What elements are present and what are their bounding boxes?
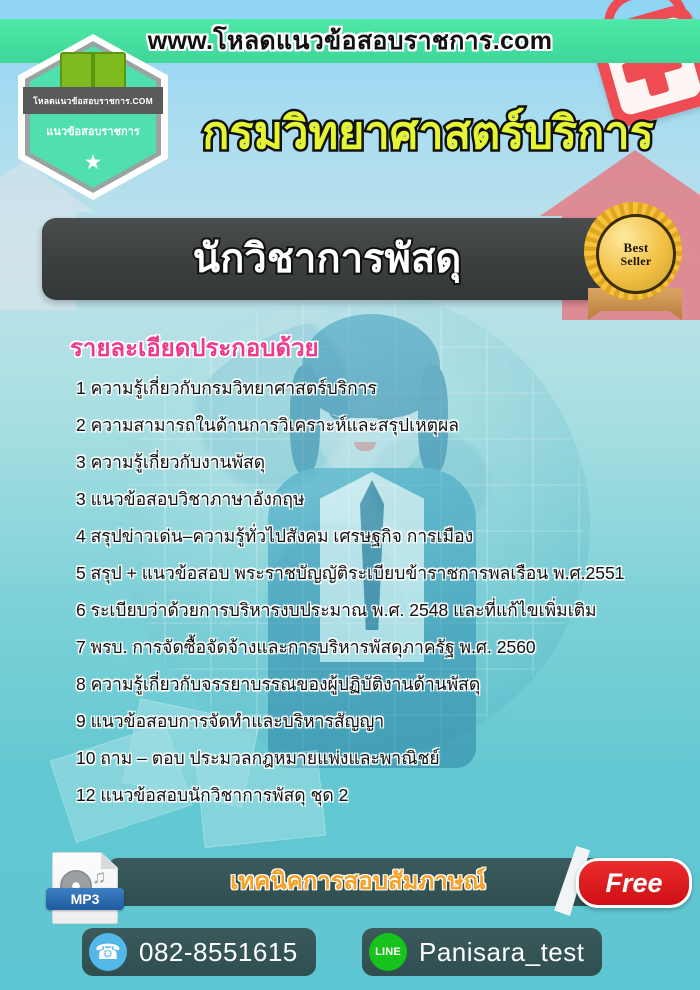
list-item: 7 พรบ. การจัดซื้อจัดจ้างและการบริหารพัสด… <box>76 639 686 676</box>
best-seller-badge: Best Seller <box>582 200 686 320</box>
contact-line[interactable]: LINE Panisara_test <box>362 928 602 976</box>
list-item: 10 ถาม – ตอบ ประมวลกฎหมายแพ่งและพาณิชย์ <box>76 750 686 787</box>
badge-domain-text: โหลดแนวข้อสอบราชการ.COM <box>33 94 153 108</box>
phone-number: 082-8551615 <box>139 939 298 965</box>
free-label: Free <box>605 870 662 897</box>
position-title: นักวิชาการพัสดุ <box>193 237 462 281</box>
list-item: 12 แนวข้อสอบนักวิชาการพัสดุ ชุด 2 <box>76 787 686 824</box>
best-seller-line2: Seller <box>620 255 651 268</box>
free-pill: Free <box>576 858 692 908</box>
brand-logo-badge[interactable]: โหลดแนวข้อสอบราชการ.COM แนวข้อสอบราชการ … <box>18 34 168 200</box>
list-item: 9 แนวข้อสอบการจัดทำและบริหารสัญญา <box>76 713 686 750</box>
free-badge: Free <box>550 848 690 914</box>
topic-list: 1 ความรู้เกี่ยวกับกรมวิทยาศาสตร์บริการ 2… <box>76 380 686 824</box>
position-banner: นักวิชาการพัสดุ <box>42 218 612 300</box>
organization-title: กรมวิทยาศาสตร์บริการ <box>168 108 688 158</box>
list-item: 3 ความรู้เกี่ยวกับงานพัสดุ <box>76 454 686 491</box>
mp3-label: MP3 <box>46 888 124 910</box>
list-item: 4 สรุปข่าวเด่น–ความรู้ทั่วไปสังคม เศรษฐก… <box>76 528 686 565</box>
star-icon: ★ <box>82 152 104 174</box>
music-note-icon: ♫ <box>92 868 106 887</box>
interview-bonus-bar: เทคนิคการสอบสัมภาษณ์ <box>108 858 608 906</box>
list-item: 3 แนวข้อสอบวิชาภาษาอังกฤษ <box>76 491 686 528</box>
website-url-text: www.โหลดแนวข้อสอบราชการ.com <box>148 29 553 54</box>
badge-domain-bar: โหลดแนวข้อสอบราชการ.COM <box>23 87 163 114</box>
contact-phone[interactable]: ☎ 082-8551615 <box>82 928 316 976</box>
list-item: 1 ความรู้เกี่ยวกับกรมวิทยาศาสตร์บริการ <box>76 380 686 417</box>
phone-icon: ☎ <box>89 933 127 971</box>
list-item: 5 สรุป + แนวข้อสอบ พระราชบัญญัติระเบียบข… <box>76 565 686 602</box>
line-icon: LINE <box>369 933 407 971</box>
list-item: 2 ความสามารถในด้านการวิเคราะห์และสรุปเหต… <box>76 417 686 454</box>
mp3-file-icon: ♫ MP3 <box>52 852 118 924</box>
line-id: Panisara_test <box>419 939 584 965</box>
interview-bonus-text: เทคนิคการสอบสัมภาษณ์ <box>230 870 486 894</box>
poster-root: www.โหลดแนวข้อสอบราชการ.com โหลดแนวข้อสอ… <box>0 0 700 990</box>
list-item: 8 ความรู้เกี่ยวกับจรรยาบรรณของผู้ปฏิบัติ… <box>76 676 686 713</box>
badge-subtitle: แนวข้อสอบราชการ <box>18 122 168 140</box>
details-heading: รายละเอียดประกอบด้วย <box>70 328 319 367</box>
list-item: 6 ระเบียบว่าด้วยการบริหารงบประมาณ พ.ศ. 2… <box>76 602 686 639</box>
best-seller-line1: Best <box>623 241 648 255</box>
best-seller-face: Best Seller <box>596 214 676 294</box>
